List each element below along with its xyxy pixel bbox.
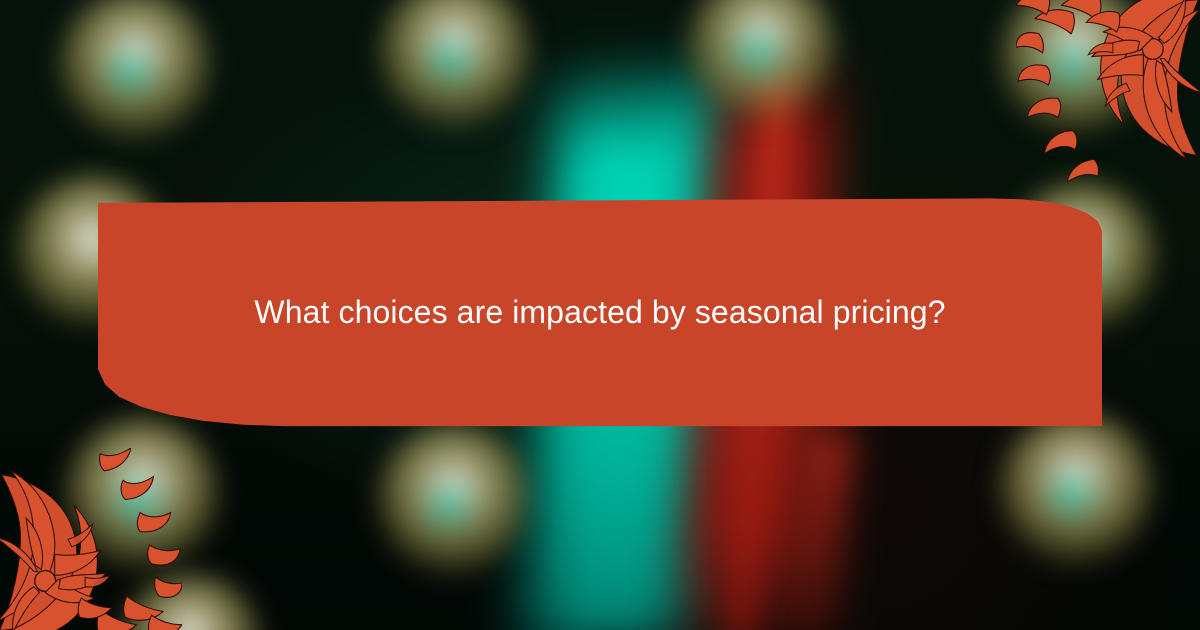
headline-banner: What choices are impacted by seasonal pr… [98,196,1102,428]
share-card: What choices are impacted by seasonal pr… [0,0,1200,630]
medallion-bot-3 [1000,412,1152,564]
page-title: What choices are impacted by seasonal pr… [254,285,945,340]
medallion-bot-2 [378,424,528,574]
headline-banner-content: What choices are impacted by seasonal pr… [98,196,1102,428]
medallion-bot-1 [66,418,218,570]
